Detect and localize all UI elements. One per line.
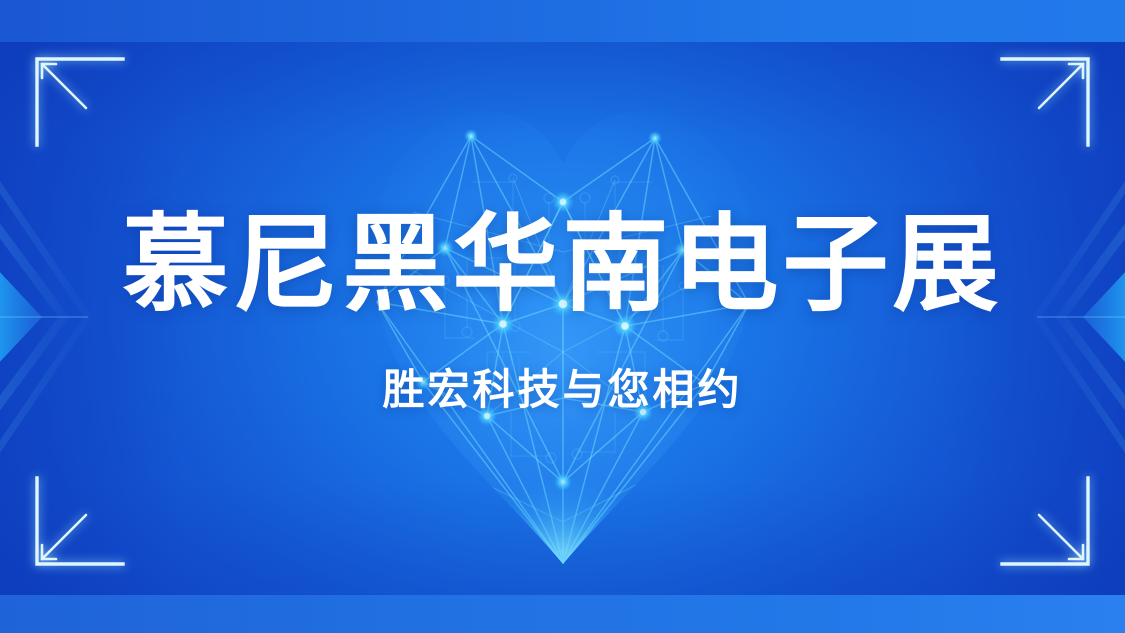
event-banner: 慕尼黑华南电子展 胜宏科技与您相约 — [0, 0, 1125, 633]
page-title: 慕尼黑华南电子展 — [123, 210, 1003, 320]
banner-subtitle: 胜宏科技与您相约 — [382, 367, 742, 413]
banner-text-block: 慕尼黑华南电子展 胜宏科技与您相约 — [0, 0, 1125, 633]
